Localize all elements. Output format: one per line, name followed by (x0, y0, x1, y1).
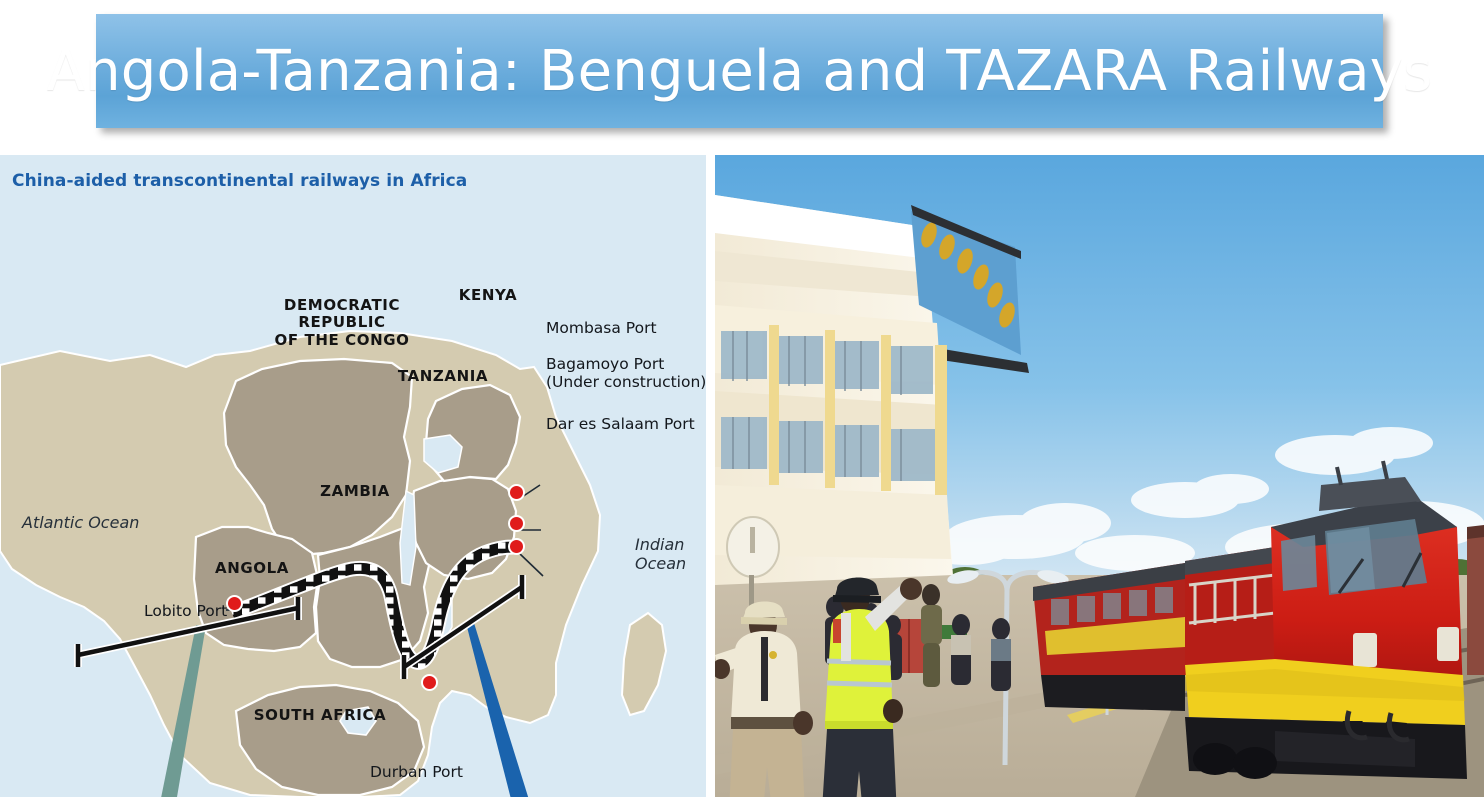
country-label-zambia: ZAMBIA (295, 483, 415, 500)
loco-side-window (1281, 535, 1317, 591)
country-label-angola: ANGOLA (192, 560, 312, 577)
boxcar (1467, 525, 1484, 675)
country-label-south-africa: SOUTH AFRICA (230, 707, 410, 724)
country-label-drc: DEMOCRATIC REPUBLIC OF THE CONGO (252, 297, 432, 349)
port-label-bagamoyo: Bagamoyo Port (Under construction) (546, 355, 706, 392)
page-title-banner: Angola-Tanzania: Benguela and TAZARA Rai… (96, 14, 1383, 128)
ocean-label-atlantic: Atlantic Ocean (22, 513, 139, 532)
train-carriages (1033, 563, 1185, 711)
port-label-dar-es-salaam: Dar es Salaam Port (546, 415, 695, 433)
indian-line-1: Indian (635, 535, 686, 554)
drc-line-1: DEMOCRATIC (252, 297, 432, 314)
port-dot-mombasa (508, 484, 525, 501)
port-dot-dar-es-salaam (508, 538, 525, 555)
port-dot-bagamoyo (508, 515, 525, 532)
port-dot-lobito (226, 595, 243, 612)
port-dot-durban (421, 674, 438, 691)
port-label-lobito: Lobito Port (144, 602, 227, 620)
loco-headlight-left (1353, 633, 1377, 667)
drc-line-3: OF THE CONGO (252, 332, 432, 349)
indian-line-2: Ocean (635, 554, 686, 573)
country-label-kenya: KENYA (438, 287, 538, 304)
map-graphic (0, 155, 706, 797)
ocean-label-indian: Indian Ocean (635, 535, 686, 573)
port-label-durban: Durban Port (370, 763, 463, 781)
bagamoyo-line-1: Bagamoyo Port (546, 355, 706, 373)
person-soldier (921, 584, 942, 687)
station-photo: 1708 (715, 155, 1484, 797)
country-label-tanzania: TANZANIA (373, 368, 513, 385)
station-photo-graphic (715, 155, 1484, 797)
loco-headlight-right (1437, 627, 1459, 661)
map-heading: China-aided transcontinental railways in… (12, 171, 467, 191)
drc-line-2: REPUBLIC (252, 314, 432, 331)
page-title: Angola-Tanzania: Benguela and TAZARA Rai… (47, 39, 1433, 104)
port-label-mombasa: Mombasa Port (546, 319, 657, 337)
bagamoyo-line-2: (Under construction) (546, 373, 706, 391)
map-figure: China-aided transcontinental railways in… (0, 155, 706, 797)
